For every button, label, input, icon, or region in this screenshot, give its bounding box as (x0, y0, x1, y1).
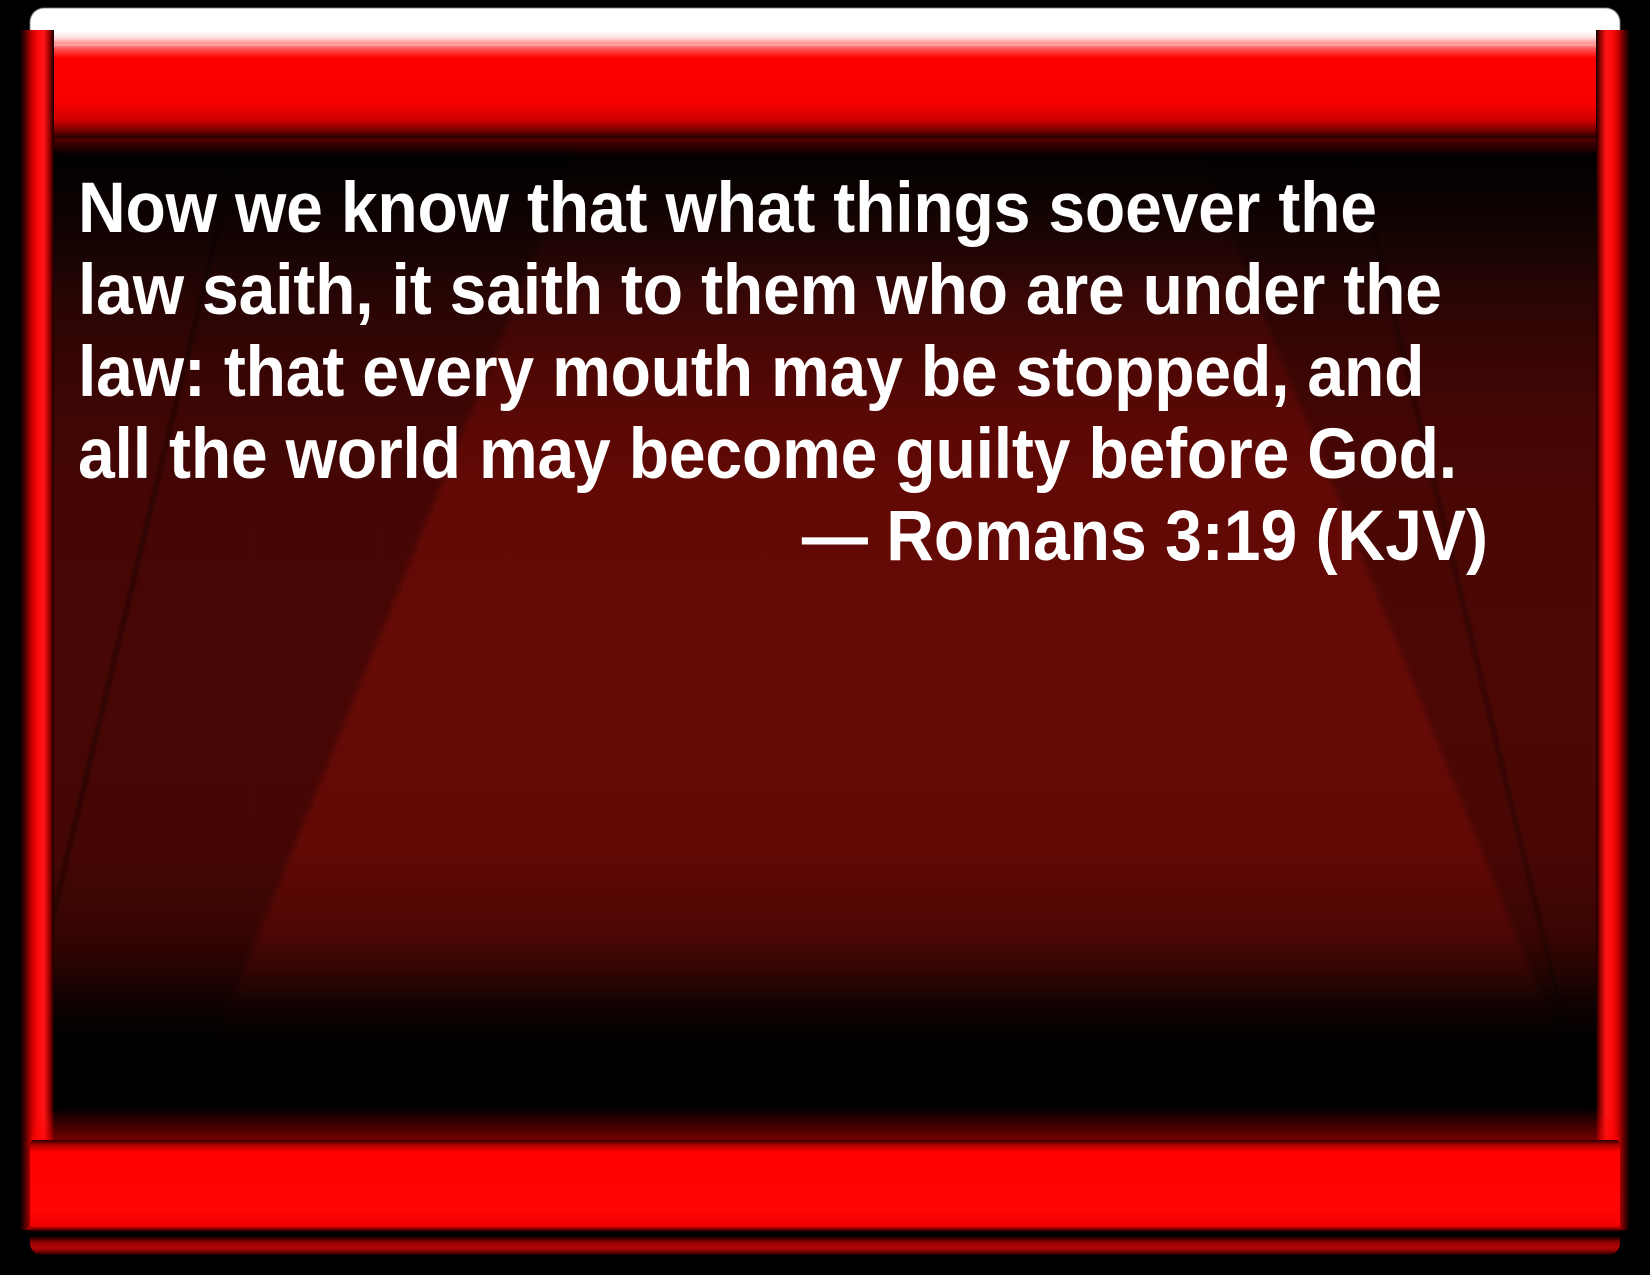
verse-line-4: all the world may become guilty before G… (78, 414, 1399, 496)
frame-top-gloss-highlight (48, 10, 1600, 44)
frame-bottom-bar (30, 1140, 1620, 1255)
verse-line-1: Now we know that what things soever the (78, 168, 1399, 250)
verse-text-block: Now we know that what things soever the … (78, 168, 1399, 496)
verse-line-3: law: that every mouth may be stopped, an… (78, 332, 1399, 414)
verse-slide: Now we know that what things soever the … (0, 0, 1650, 1275)
verse-citation: — Romans 3:19 (KJV) (177, 496, 1488, 578)
frame-left-bar (20, 30, 54, 1230)
frame-right-bar (1596, 30, 1630, 1230)
verse-line-2: law saith, it saith to them who are unde… (78, 250, 1399, 332)
